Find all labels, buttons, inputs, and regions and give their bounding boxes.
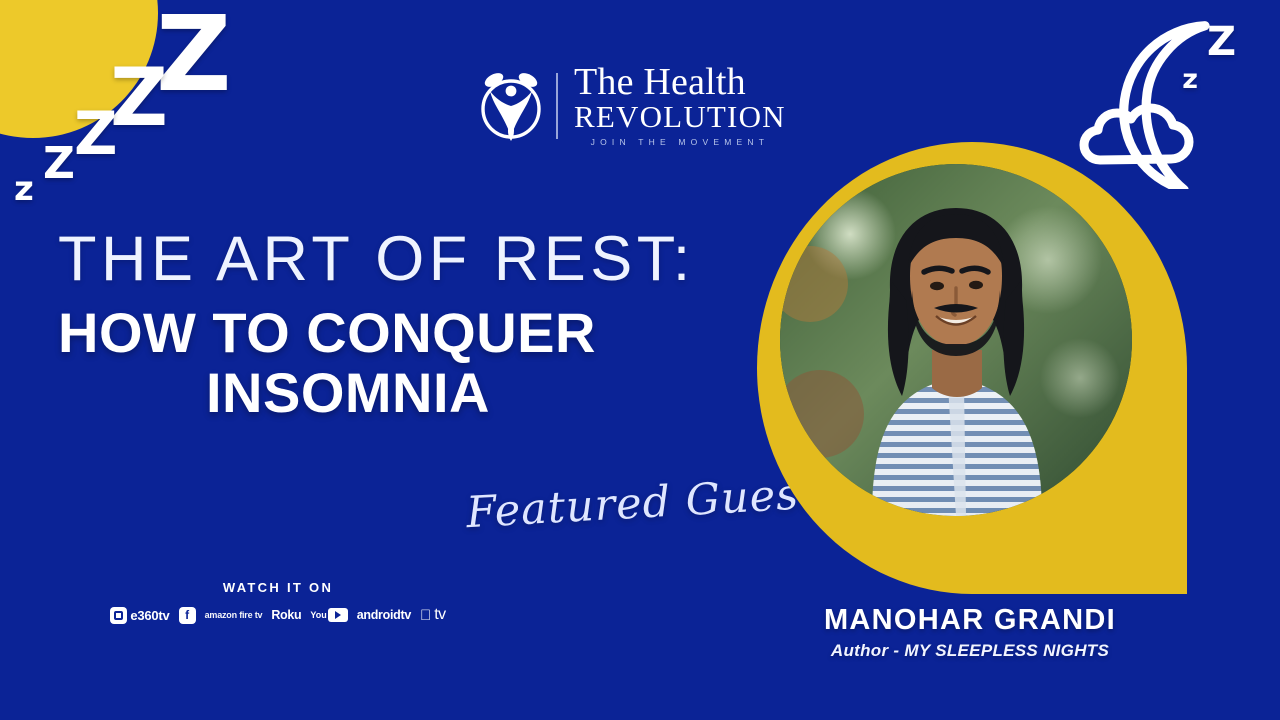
headline-line-2: INSOMNIA [58, 363, 758, 423]
watch-it-on-title: WATCH IT ON [78, 580, 478, 595]
android-tv-label: androidtv [357, 608, 411, 622]
apple-tv-label: tv [434, 606, 445, 624]
platform-logo-row: e360tv f amazon fire tv Roku You android… [78, 604, 478, 626]
headline-block: THE ART OF REST: HOW TO CONQUER INSOMNIA [58, 228, 758, 424]
e360tv-label: e360tv [130, 608, 169, 623]
brand-tagline: JOIN THE MOVEMENT [574, 137, 786, 147]
headline-kicker: THE ART OF REST: [58, 228, 758, 291]
sleep-z-trail: Z Z Z Z z [0, 0, 270, 225]
platform-facebook: f [179, 607, 196, 624]
apple-logo-icon:  [420, 608, 431, 623]
brand-divider [556, 73, 558, 139]
guest-portrait-frame [757, 142, 1187, 594]
headline-line-1: HOW TO CONQUER [58, 301, 596, 364]
brand-logo: The Health REVOLUTION JOIN THE MOVEMENT [478, 64, 786, 147]
platform-e360tv: e360tv [110, 607, 169, 624]
health-revolution-emblem-icon [478, 67, 544, 145]
amazon-fire-tv-label: amazon fire tv [205, 610, 263, 620]
thumbnail-canvas: Z Z Z Z z Z z The Heal [0, 0, 1280, 720]
sleep-z-icon: Z [110, 58, 168, 138]
e360tv-icon [110, 607, 127, 624]
watch-it-on-block: WATCH IT ON e360tv f amazon fire tv Roku… [78, 580, 478, 626]
facebook-icon: f [179, 607, 196, 624]
moon-sleep-z-icon: Z [1207, 22, 1236, 62]
youtube-play-icon [328, 608, 348, 622]
platform-android-tv: androidtv [357, 608, 411, 622]
platform-amazon-fire-tv: amazon fire tv [205, 610, 263, 620]
sleep-z-icon: Z [43, 142, 75, 186]
platform-apple-tv:  tv [420, 606, 446, 624]
headline-main: HOW TO CONQUER INSOMNIA [58, 303, 758, 424]
platform-roku: Roku [271, 608, 301, 622]
roku-label: Roku [271, 608, 301, 622]
youtube-label: You [310, 610, 326, 620]
guest-photo [780, 164, 1132, 516]
speaker-caption: MANOHAR GRANDI Author - MY SLEEPLESS NIG… [760, 604, 1180, 661]
sleep-z-icon: z [14, 172, 34, 206]
moon-sleep-z-icon: z [1182, 66, 1198, 93]
brand-wordmark: The Health REVOLUTION JOIN THE MOVEMENT [574, 64, 786, 147]
speaker-name: MANOHAR GRANDI [760, 604, 1180, 637]
brand-line-the-health: The Health [574, 64, 786, 101]
platform-youtube: You [310, 608, 347, 622]
sleep-z-icon: Z [74, 104, 118, 164]
brand-line-revolution: REVOLUTION [574, 101, 786, 133]
guest-photo-illustration [780, 164, 1132, 516]
speaker-role: Author - MY SLEEPLESS NIGHTS [760, 641, 1180, 661]
